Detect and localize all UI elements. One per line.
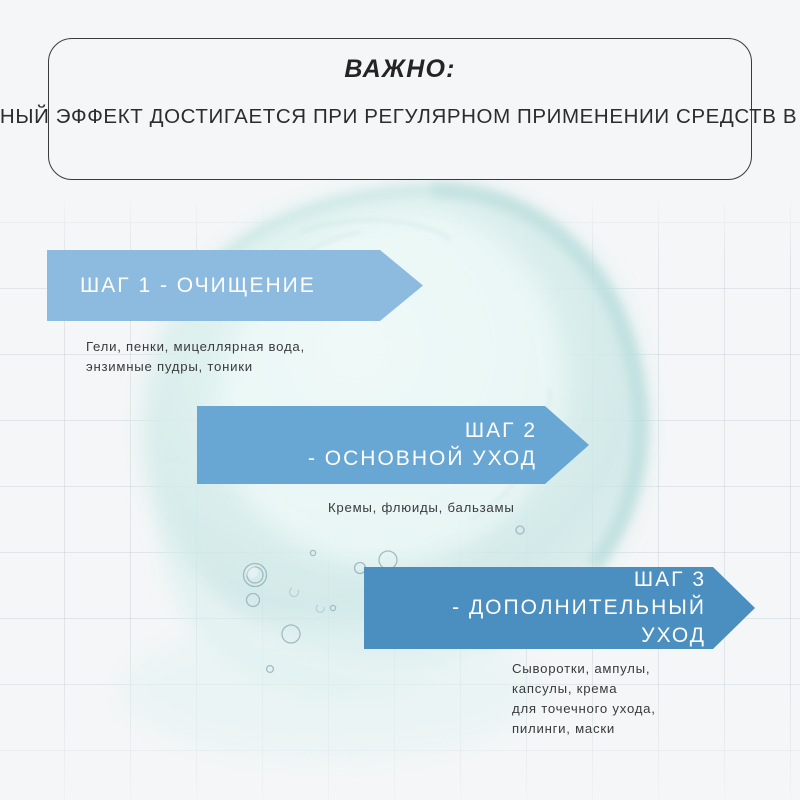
step-2-banner: ШАГ 2 - ОСНОВНОЙ УХОД — [197, 406, 589, 484]
step-1-caption: Гели, пенки, мицеллярная вода, энзимные … — [86, 337, 305, 377]
step-1-banner: ШАГ 1 - ОЧИЩЕНИЕ — [47, 250, 423, 321]
step-2-caption: Кремы, флюиды, бальзамы — [328, 498, 515, 518]
callout-title: ВАЖНО: — [344, 56, 455, 84]
important-callout-box: ВАЖНО: МАКСИМАЛЬНЫЙ ЭФФЕКТ ДОСТИГАЕТСЯ П… — [48, 38, 752, 180]
step-3-label: ШАГ 3 - ДОПОЛНИТЕЛЬНЫЙ УХОД — [364, 567, 709, 649]
infographic-canvas: ВАЖНО: МАКСИМАЛЬНЫЙ ЭФФЕКТ ДОСТИГАЕТСЯ П… — [0, 0, 800, 800]
step-3-caption: Сыворотки, ампулы, капсулы, крема для то… — [512, 659, 656, 739]
step-2-label: ШАГ 2 - ОСНОВНОЙ УХОД — [197, 406, 541, 484]
callout-subtitle: МАКСИМАЛЬНЫЙ ЭФФЕКТ ДОСТИГАЕТСЯ ПРИ РЕГУ… — [0, 103, 800, 131]
step-1-label: ШАГ 1 - ОЧИЩЕНИЕ — [80, 250, 316, 321]
step-3-banner: ШАГ 3 - ДОПОЛНИТЕЛЬНЫЙ УХОД — [364, 567, 755, 649]
